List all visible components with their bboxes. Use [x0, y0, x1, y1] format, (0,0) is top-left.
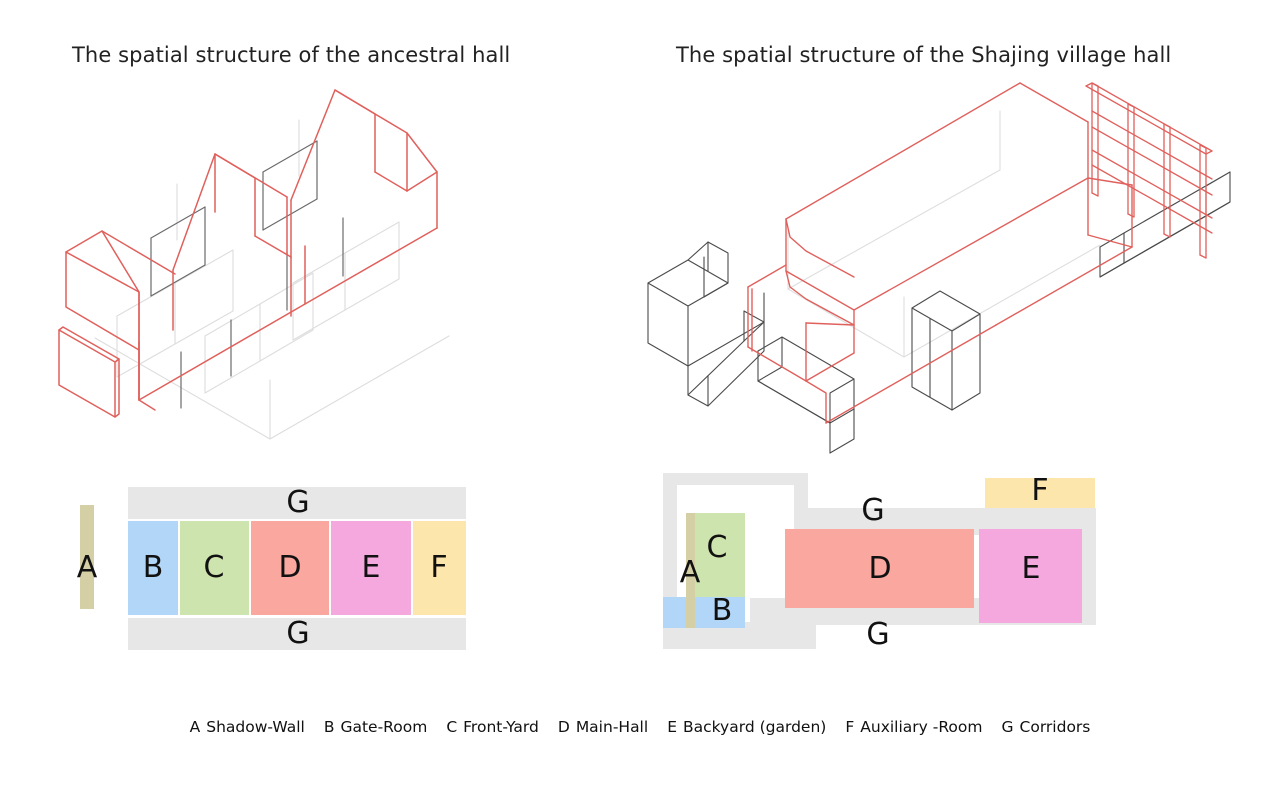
- plan-right-front-yard: [690, 513, 745, 598]
- plan-right-gate-room: [663, 597, 745, 628]
- plan-left-auxiliary: [413, 521, 466, 615]
- legend-key-c: C: [446, 718, 457, 736]
- legend-item-f: F Auxiliary -Room: [845, 718, 982, 736]
- legend-item-b: B Gate-Room: [324, 718, 428, 736]
- legend-text-a: Shadow-Wall: [206, 718, 305, 736]
- legend: A Shadow-Wall B Gate-Room C Front-Yard D…: [0, 718, 1280, 736]
- plan-right-courtyard-wall-top: [663, 473, 808, 485]
- legend-key-f: F: [845, 718, 854, 736]
- legend-text-g: Corridors: [1020, 718, 1091, 736]
- legend-item-e: E Backyard (garden): [667, 718, 826, 736]
- plan-right-backyard: [979, 529, 1082, 623]
- legend-text-e: Backyard (garden): [683, 718, 826, 736]
- plan-left-backyard: [331, 521, 411, 615]
- legend-item-g: G Corridors: [1002, 718, 1091, 736]
- plan-right-shadow-wall: [686, 513, 695, 628]
- legend-text-b: Gate-Room: [340, 718, 427, 736]
- plan-ancestral-hall: [0, 0, 640, 811]
- plan-shajing-village-hall: [640, 0, 1280, 811]
- panel-shajing-village-hall: The spatial structure of the Shajing vil…: [640, 0, 1280, 811]
- legend-item-c: C Front-Yard: [446, 718, 539, 736]
- plan-left-corridor-top: [128, 487, 466, 519]
- plan-left-shadow-wall: [80, 505, 94, 609]
- legend-key-b: B: [324, 718, 335, 736]
- plan-right-courtyard-wall-right: [794, 473, 808, 513]
- legend-key-d: D: [558, 718, 570, 736]
- legend-key-e: E: [667, 718, 677, 736]
- legend-text-c: Front-Yard: [463, 718, 539, 736]
- plan-left-front-yard: [180, 521, 249, 615]
- plan-right-auxiliary: [985, 478, 1095, 508]
- legend-item-a: A Shadow-Wall: [190, 718, 305, 736]
- plan-left-corridor-bottom: [128, 618, 466, 650]
- legend-key-g: G: [1002, 718, 1014, 736]
- legend-text-f: Auxiliary -Room: [860, 718, 982, 736]
- legend-item-d: D Main-Hall: [558, 718, 648, 736]
- plan-left-main-hall: [251, 521, 329, 615]
- legend-key-a: A: [190, 718, 201, 736]
- legend-text-d: Main-Hall: [576, 718, 648, 736]
- plan-left-gate-room: [128, 521, 178, 615]
- panel-ancestral-hall: The spatial structure of the ancestral h…: [0, 0, 640, 811]
- plan-right-main-hall: [785, 529, 974, 608]
